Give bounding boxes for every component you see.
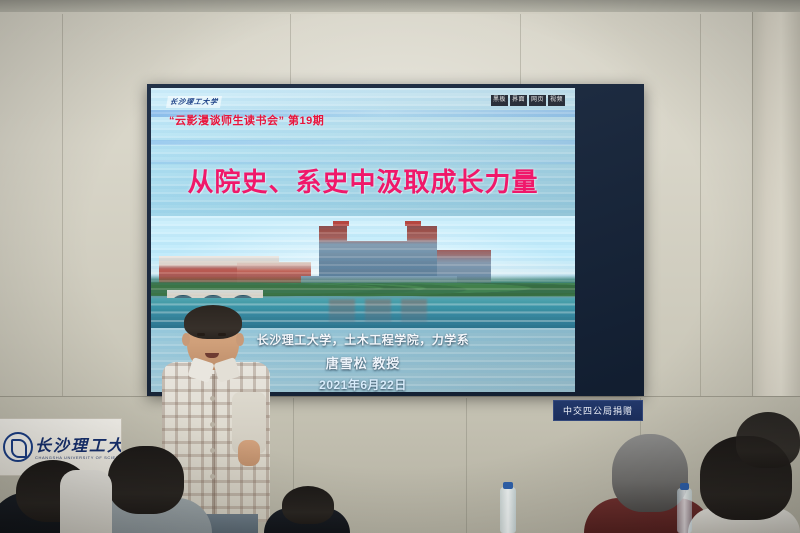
audience-left-standing-torso	[60, 470, 112, 533]
speaker-shirt-button	[210, 422, 215, 427]
audience-center-head	[282, 486, 334, 524]
building-reflection	[329, 299, 355, 323]
tower-gate-opening	[347, 226, 407, 241]
building-reflection	[401, 299, 427, 323]
projector-band	[151, 140, 575, 145]
university-logo-icon	[3, 432, 33, 462]
speaker-hair	[184, 305, 242, 339]
lecture-hall-photo: 长沙理工大学 黑板 界面 网页 视频 “云影漫谈师生读书会” 第19期 从院史、…	[0, 0, 800, 533]
building-reflection	[365, 299, 391, 323]
slide-corner-badges: 黑板 界面 网页 视频	[491, 95, 565, 106]
slide-badge: 界面	[510, 95, 527, 106]
speaker-eye-right	[218, 333, 226, 336]
wall-column	[752, 12, 800, 453]
slide-badge: 黑板	[491, 95, 508, 106]
speaker-shirt-placket	[212, 374, 215, 514]
wall-panel-seam	[700, 14, 701, 452]
lower-wall-seam	[466, 398, 467, 533]
audience-far-right-head	[736, 412, 800, 468]
slide-badge: 网页	[529, 95, 546, 106]
audience-left-man-head	[108, 446, 184, 514]
water-bottle-cap	[680, 483, 689, 490]
speaker-hand	[238, 440, 260, 466]
speaker-eye-left	[197, 333, 205, 336]
slide-university-logo: 长沙理工大学	[166, 96, 222, 108]
donor-plaque: 中交四公局捐赠	[553, 400, 643, 421]
water-bottle	[677, 488, 692, 533]
slide-badge: 视频	[548, 95, 565, 106]
water-bottle-cap	[503, 482, 513, 489]
water-bottle	[500, 487, 516, 533]
wainscot-divider	[0, 396, 800, 397]
wall-panel-seam	[62, 14, 63, 452]
speaker-shirt-button	[210, 448, 215, 453]
slide-series-label: “云影漫谈师生读书会” 第19期	[169, 112, 324, 128]
donor-plaque-text: 中交四公局捐赠	[563, 404, 633, 417]
speaker-ear-right	[236, 333, 244, 346]
speaker-shirt-button	[210, 474, 215, 479]
university-name-cn: 长沙理工大学	[35, 432, 122, 456]
slide-title: 从院史、系史中汲取成长力量	[151, 162, 575, 199]
speaker-ear-left	[182, 333, 190, 346]
speaker-shirt-button	[210, 396, 215, 401]
